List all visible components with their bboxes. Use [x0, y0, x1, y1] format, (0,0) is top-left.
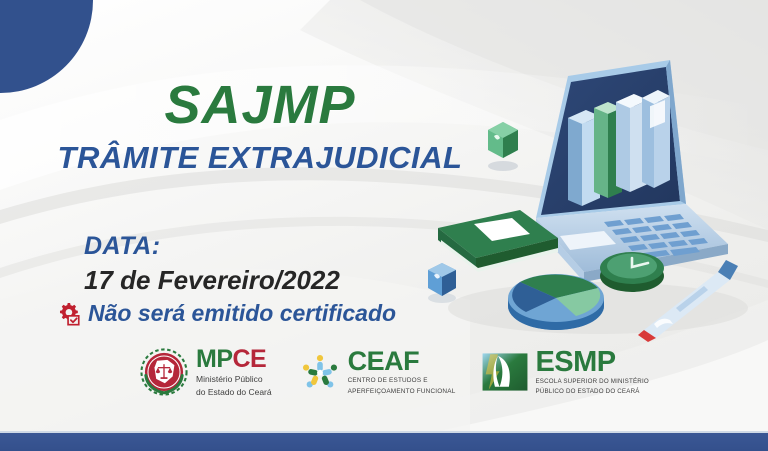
- ceaf-wordmark: CEAF: [348, 348, 456, 375]
- blue-cube: [428, 263, 456, 303]
- clock: [600, 252, 664, 292]
- mpce-seal-icon: [138, 346, 190, 398]
- date-label: DATA:: [84, 232, 396, 261]
- esmp-flag-icon: [481, 351, 529, 393]
- mpce-text-block: MPCE Ministério Público do Estado do Cea…: [196, 347, 272, 397]
- footer-bar: [0, 433, 768, 451]
- certificate-note-text: Não será emitido certificado: [88, 301, 396, 326]
- logo-mpce: MPCE Ministério Público do Estado do Cea…: [138, 346, 272, 398]
- page-subtitle: TRÂMITE EXTRAJUDICIAL: [0, 142, 520, 173]
- pie-chart: [508, 274, 604, 330]
- event-banner: SAJMP TRÂMITE EXTRAJUDICIAL DATA: 17 de …: [0, 0, 768, 451]
- ceaf-tagline-line-1: CENTRO DE ESTUDOS E: [348, 377, 456, 386]
- ceaf-text-block: CEAF CENTRO DE ESTUDOS E APERFEIÇOAMENTO…: [348, 348, 456, 396]
- gear-checkbox-icon: [56, 301, 82, 327]
- event-info-block: DATA: 17 de Fevereiro/2022 Não será emit…: [84, 232, 396, 327]
- certificate-note-row: Não será emitido certificado: [56, 301, 396, 327]
- mpce-wordmark: MPCE: [196, 347, 272, 372]
- mpce-word-ce: CE: [233, 345, 267, 373]
- page-title: SAJMP: [0, 78, 520, 132]
- logo-row: MPCE Ministério Público do Estado do Cea…: [138, 346, 649, 398]
- mpce-tagline-line-2: do Estado do Ceará: [196, 387, 272, 398]
- headline-block: SAJMP TRÂMITE EXTRAJUDICIAL: [0, 78, 520, 173]
- ceaf-tagline-line-2: APERFEIÇOAMENTO FUNCIONAL: [348, 388, 456, 397]
- esmp-text-block: ESMP ESCOLA SUPERIOR DO MINISTÉRIO PÚBLI…: [535, 348, 648, 396]
- logo-esmp: ESMP ESCOLA SUPERIOR DO MINISTÉRIO PÚBLI…: [481, 348, 648, 396]
- mpce-word-mp: MP: [196, 345, 233, 373]
- ceaf-people-icon: [298, 350, 342, 394]
- esmp-tagline-line-2: PÚBLICO DO ESTADO DO CEARÁ: [535, 388, 648, 396]
- date-value: 17 de Fevereiro/2022: [84, 265, 396, 296]
- esmp-tagline-line-1: ESCOLA SUPERIOR DO MINISTÉRIO: [535, 378, 648, 386]
- esmp-wordmark: ESMP: [535, 348, 648, 377]
- mpce-tagline-line-1: Ministério Público: [196, 374, 272, 385]
- logo-ceaf: CEAF CENTRO DE ESTUDOS E APERFEIÇOAMENTO…: [298, 348, 456, 396]
